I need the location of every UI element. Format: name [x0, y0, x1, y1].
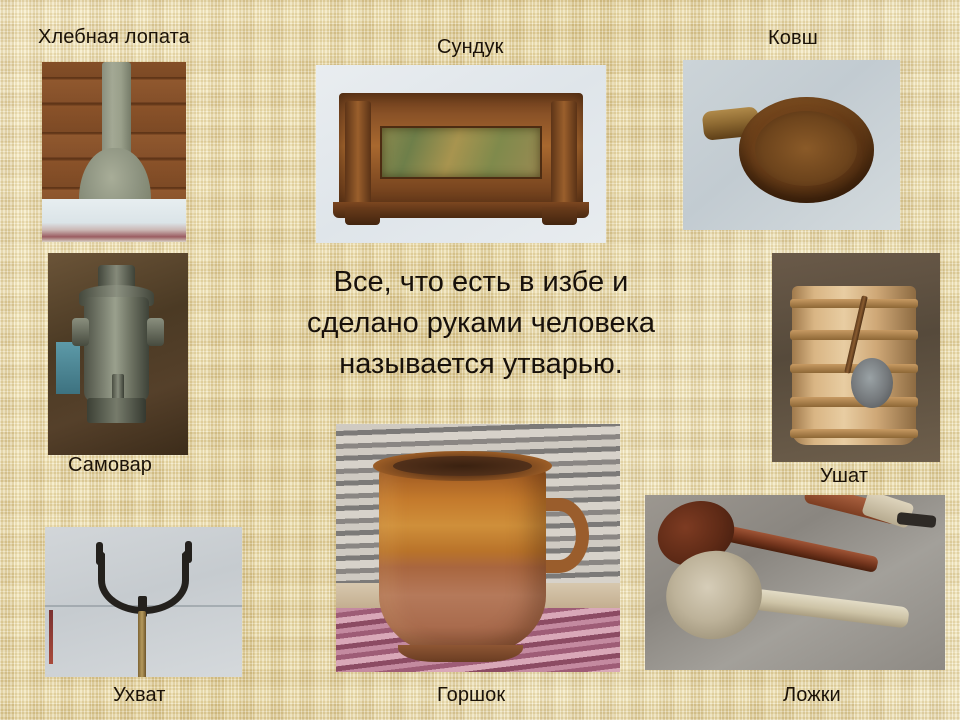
pot-fork-tip-left: [96, 542, 103, 565]
samovar-handle-left: [72, 318, 89, 346]
samovar-handle-right: [147, 318, 164, 346]
scoop-backdrop: [683, 60, 900, 230]
slide-canvas: Хлебная лопата Сундук Ковш: [0, 0, 960, 720]
clay-pot-foot: [398, 645, 523, 662]
chest-foot-right: [542, 207, 577, 225]
samovar-blue-can: [56, 342, 80, 395]
pot-fork-red-strip: [49, 610, 53, 664]
pot-fork-backdrop: [45, 527, 242, 677]
photo-gorshok: [336, 424, 620, 672]
spoons-backdrop: [645, 495, 945, 670]
clay-pot-mouth: [393, 456, 532, 476]
chest-column-right: [551, 101, 577, 204]
tub-dipper-bowl: [851, 358, 893, 408]
samovar-backdrop: [48, 253, 188, 455]
tub-hoop-1: [790, 299, 918, 308]
pot-fork-handle: [138, 611, 147, 677]
chest-backdrop: [316, 65, 606, 243]
photo-hlebnaya-lopata: [42, 62, 186, 242]
samovar-base: [87, 398, 146, 422]
bread-peel-ground: [42, 199, 186, 242]
caption-kovsh: Ковш: [768, 28, 818, 49]
photo-sunduk: [316, 65, 606, 243]
photo-lozhki: [645, 495, 945, 670]
caption-hlebnaya-lopata: Хлебная лопата: [38, 27, 190, 48]
scoop-bowl-interior: [755, 111, 857, 186]
pot-fork-tip-right: [185, 541, 192, 564]
central-statement: Все, что есть в избе и сделано руками че…: [236, 262, 726, 386]
chest-column-left: [345, 101, 371, 204]
central-statement-line-3: называется утварью.: [236, 344, 726, 385]
clay-pot-backdrop: [336, 424, 620, 672]
photo-uhvat: [45, 527, 242, 677]
caption-uhvat: Ухват: [113, 685, 166, 706]
spoon-light-handle: [752, 589, 909, 629]
chest-foot-left: [345, 207, 380, 225]
clay-pot-body: [379, 456, 547, 654]
caption-samovar: Самовар: [68, 455, 152, 476]
chest-carved-panel: [380, 126, 542, 179]
bread-peel-wall: [42, 62, 186, 242]
central-statement-line-2: сделано руками человека: [236, 303, 726, 344]
caption-ushat: Ушат: [820, 466, 868, 487]
tub-hoop-5: [790, 429, 918, 438]
central-statement-line-1: Все, что есть в избе и: [236, 262, 726, 303]
tub-hoop-4: [790, 397, 918, 406]
photo-samovar: [48, 253, 188, 455]
caption-sunduk: Сундук: [437, 37, 504, 58]
photo-ushat: [772, 253, 940, 462]
photo-kovsh: [683, 60, 900, 230]
caption-lozhki: Ложки: [783, 685, 841, 706]
tub-backdrop: [772, 253, 940, 462]
caption-gorshok: Горшок: [437, 685, 505, 706]
samovar-neck: [98, 265, 134, 287]
